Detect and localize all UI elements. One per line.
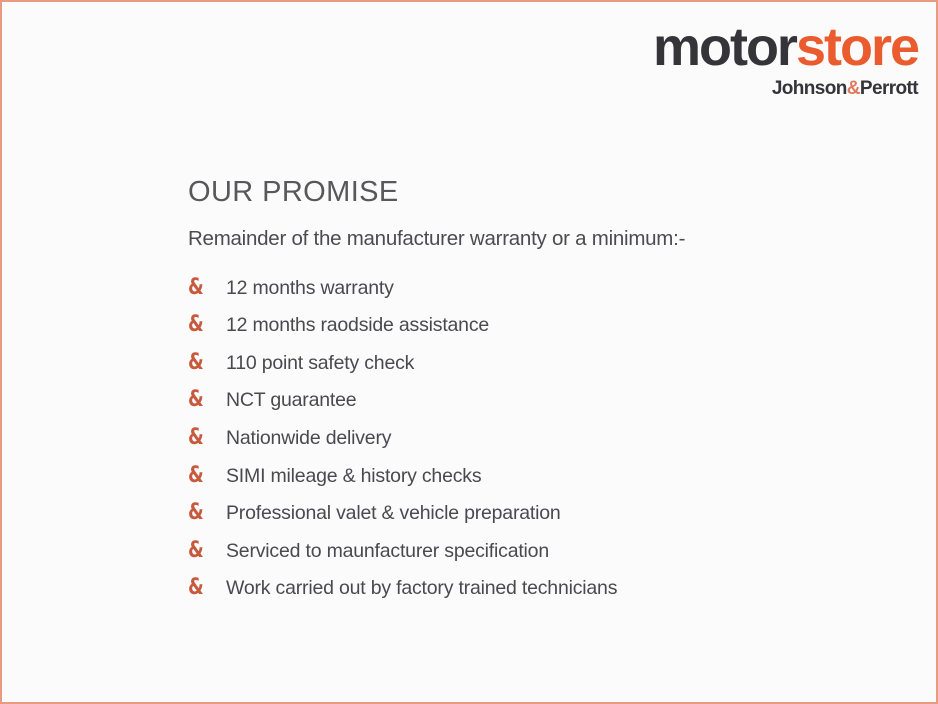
list-item: & NCT guarantee [188, 389, 908, 427]
logo-word-motor: motor [653, 17, 796, 77]
list-item: & Professional valet & vehicle preparati… [188, 502, 908, 540]
logo-word-store: store [796, 17, 918, 77]
promise-content: OUR PROMISE Remainder of the manufacture… [188, 178, 908, 615]
logo-sub-ampersand-icon: & [847, 78, 860, 99]
logo-sub-perrott: Perrott [860, 78, 918, 99]
ampersand-bullet-icon: & [188, 352, 219, 374]
ampersand-bullet-icon: & [188, 277, 219, 299]
list-item-label: Professional valet & vehicle preparation [226, 504, 561, 524]
header-gradient-band [0, 26, 638, 99]
list-item: & Serviced to maunfacturer specification [188, 540, 908, 578]
list-item: & 110 point safety check [188, 352, 908, 390]
ampersand-bullet-icon: & [188, 502, 219, 524]
logo-wordmark: motorstore [653, 20, 918, 74]
ampersand-bullet-icon: & [188, 465, 219, 487]
list-item-label: 110 point safety check [226, 354, 414, 374]
ampersand-bullet-icon: & [188, 389, 219, 411]
list-item: & 12 months warranty [188, 277, 908, 315]
list-item-label: Work carried out by factory trained tech… [226, 579, 617, 599]
promise-list: & 12 months warranty & 12 months raodsid… [188, 277, 908, 615]
ampersand-bullet-icon: & [188, 577, 219, 599]
list-item: & 12 months raodside assistance [188, 314, 908, 352]
list-item-label: 12 months warranty [226, 279, 394, 299]
slide-canvas: motorstore Johnson&Perrott OUR PROMISE R… [0, 0, 938, 704]
list-item-label: Serviced to maunfacturer specification [226, 542, 549, 562]
page-title: OUR PROMISE [188, 178, 908, 207]
list-item: & Nationwide delivery [188, 427, 908, 465]
motorstore-logo: motorstore Johnson&Perrott [653, 20, 918, 98]
page-subtitle: Remainder of the manufacturer warranty o… [188, 228, 908, 251]
list-item-label: NCT guarantee [226, 391, 356, 411]
ampersand-bullet-icon: & [188, 540, 219, 562]
ampersand-bullet-icon: & [188, 427, 219, 449]
logo-subtitle: Johnson&Perrott [653, 79, 918, 98]
ampersand-bullet-icon: & [188, 314, 219, 336]
list-item: & Work carried out by factory trained te… [188, 577, 908, 615]
logo-sub-johnson: Johnson [772, 78, 847, 99]
list-item: & SIMI mileage & history checks [188, 465, 908, 503]
list-item-label: Nationwide delivery [226, 429, 391, 449]
list-item-label: 12 months raodside assistance [226, 316, 489, 336]
list-item-label: SIMI mileage & history checks [226, 467, 481, 487]
